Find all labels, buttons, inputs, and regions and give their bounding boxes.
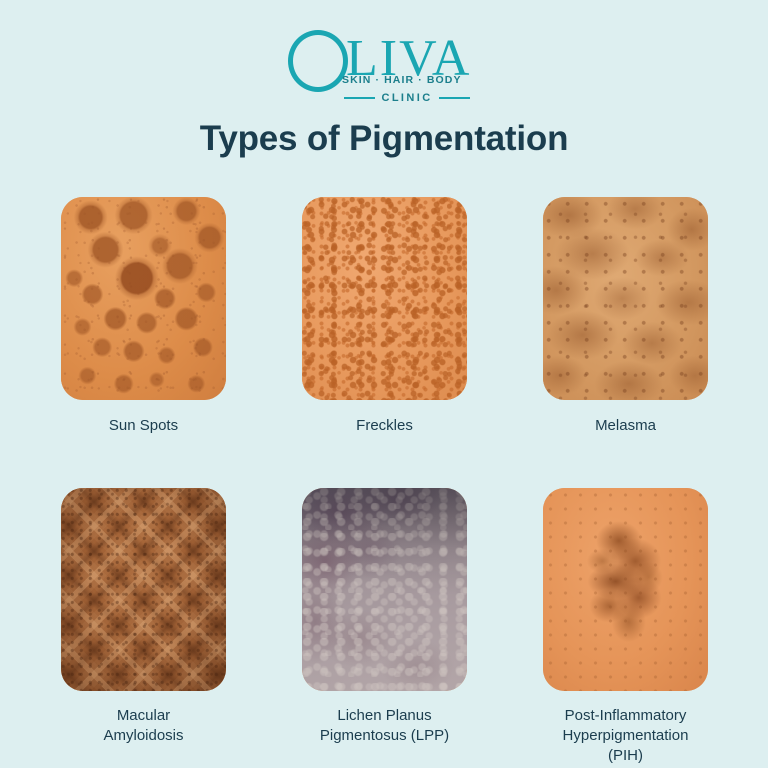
skin-blotch-layer	[543, 488, 708, 691]
image-tile-macular-amyloidosis	[61, 488, 226, 691]
rule-right-divider	[439, 97, 470, 99]
image-tile-post-inflammatory-hyperpigmentation	[543, 488, 708, 691]
image-tile-sun-spots	[61, 197, 226, 400]
grid-cell-macular-amyloidosis: Macular Amyloidosis	[61, 488, 226, 766]
skin-freckle-layer	[302, 197, 467, 400]
tile-caption: Freckles	[356, 416, 413, 436]
pigmentation-grid: Sun Spots Freckles Melasma	[61, 197, 708, 766]
grid-cell-post-inflammatory-hyperpigmentation: Post-Inflammatory Hyperpigmentation (PIH…	[543, 488, 708, 766]
logo-o-ring-icon	[288, 30, 348, 92]
brand-tagline: SKIN · HAIR · BODY	[342, 74, 462, 86]
page-title: Types of Pigmentation	[0, 119, 768, 159]
image-tile-freckles	[302, 197, 467, 400]
skin-shadow-layer	[302, 488, 467, 691]
tile-caption: Sun Spots	[109, 416, 178, 436]
image-tile-lichen-planus-pigmentosus	[302, 488, 467, 691]
grid-row: Macular Amyloidosis Lichen Planus Pigmen…	[61, 488, 708, 766]
skin-speckle-layer	[543, 197, 708, 400]
brand-subtitle-row: CLINIC	[344, 92, 470, 104]
rule-left-divider	[344, 97, 375, 99]
tile-caption: Lichen Planus Pigmentosus (LPP)	[320, 706, 449, 746]
brand-logo: LIVA SKIN · HAIR · BODY CLINIC	[0, 30, 768, 110]
infographic-page: LIVA SKIN · HAIR · BODY CLINIC Types of …	[0, 0, 768, 768]
grid-cell-freckles: Freckles	[302, 197, 467, 436]
brand-subtitle: CLINIC	[381, 92, 432, 104]
skin-spot-layer	[61, 197, 226, 400]
grid-cell-sun-spots: Sun Spots	[61, 197, 226, 436]
grid-cell-lichen-planus-pigmentosus: Lichen Planus Pigmentosus (LPP)	[302, 488, 467, 766]
tile-caption: Post-Inflammatory Hyperpigmentation (PIH…	[543, 706, 708, 766]
grid-cell-melasma: Melasma	[543, 197, 708, 436]
grid-row: Sun Spots Freckles Melasma	[61, 197, 708, 436]
skin-vignette-layer	[61, 488, 226, 691]
image-tile-melasma	[543, 197, 708, 400]
brand-logo-inner: LIVA SKIN · HAIR · BODY CLINIC	[284, 30, 484, 110]
tile-caption: Melasma	[595, 416, 656, 436]
tile-caption: Macular Amyloidosis	[103, 706, 183, 746]
